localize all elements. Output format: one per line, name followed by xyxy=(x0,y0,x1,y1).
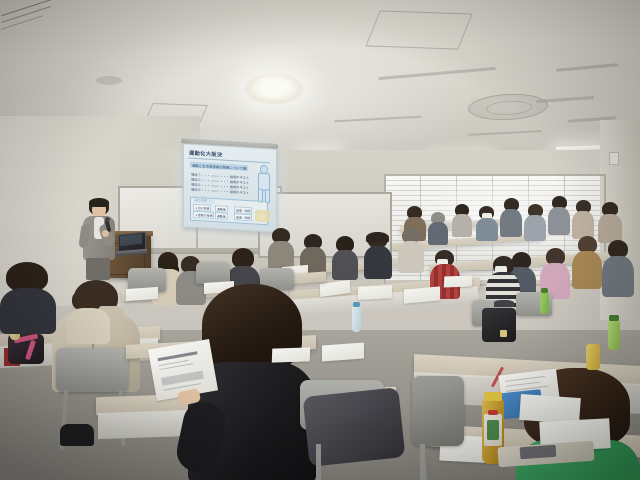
attendee-with-face-mask xyxy=(476,206,498,240)
bag-handle xyxy=(494,300,514,307)
handbag-black xyxy=(482,308,516,342)
attendee xyxy=(452,204,472,236)
bottle-cap xyxy=(353,302,360,307)
chair-leg xyxy=(316,444,321,480)
attendee xyxy=(0,262,56,332)
wall-sensor-icon xyxy=(609,152,619,165)
attendee xyxy=(428,212,448,244)
slide-table-cell: １週間の目標 xyxy=(193,211,214,219)
chair xyxy=(412,376,464,446)
projection-screen: 運動化大阪決 運動と生活習慣病の関係について簡単な説明 項目①・・・ ○○○○ … xyxy=(183,143,277,233)
green-bottle xyxy=(540,292,549,314)
attendee xyxy=(364,232,392,278)
bottle-label-graphic xyxy=(487,420,499,440)
slide-corner-graphic xyxy=(255,209,270,222)
bottle-cap xyxy=(484,392,502,401)
slide-table-cell: 強度・時間 xyxy=(234,213,252,221)
round-ceiling-light xyxy=(245,74,303,104)
chair-leg xyxy=(420,444,425,480)
pencil-case-flap xyxy=(520,445,557,459)
attendee xyxy=(524,204,546,240)
handout-paper xyxy=(358,285,392,300)
ceiling-access-panel xyxy=(365,10,472,49)
ceiling-disc xyxy=(96,76,122,85)
handout-paper xyxy=(272,347,310,362)
bottle-cap xyxy=(609,315,619,321)
handout-paper xyxy=(322,343,364,362)
attendee xyxy=(398,228,424,272)
handout-paper xyxy=(444,275,473,287)
microphone-head xyxy=(105,217,110,222)
presenter-hand xyxy=(102,230,109,237)
shoe xyxy=(60,424,94,446)
bag-clasp xyxy=(500,330,507,337)
attendee xyxy=(500,198,522,236)
attendee xyxy=(602,240,634,296)
bottle-label-accent xyxy=(488,410,498,415)
seminar-room-photo: 運動化大阪決 運動と生活習慣病の関係について簡単な説明 項目①・・・ ○○○○ … xyxy=(0,0,640,480)
human-body-diagram xyxy=(255,164,271,205)
attendee xyxy=(572,200,594,238)
slide-table-cell: 運動量 xyxy=(215,212,228,220)
attendee xyxy=(66,288,110,342)
attendee xyxy=(268,228,294,268)
presenter-speaking xyxy=(78,198,122,280)
hat xyxy=(366,232,389,243)
green-bottle xyxy=(608,320,620,350)
drink-bottle xyxy=(586,344,600,370)
chair xyxy=(56,348,128,392)
attendee xyxy=(548,196,570,234)
attendee xyxy=(332,236,358,278)
attendee xyxy=(572,236,602,288)
water-bottle xyxy=(352,306,361,332)
bottle-cap xyxy=(541,288,548,293)
